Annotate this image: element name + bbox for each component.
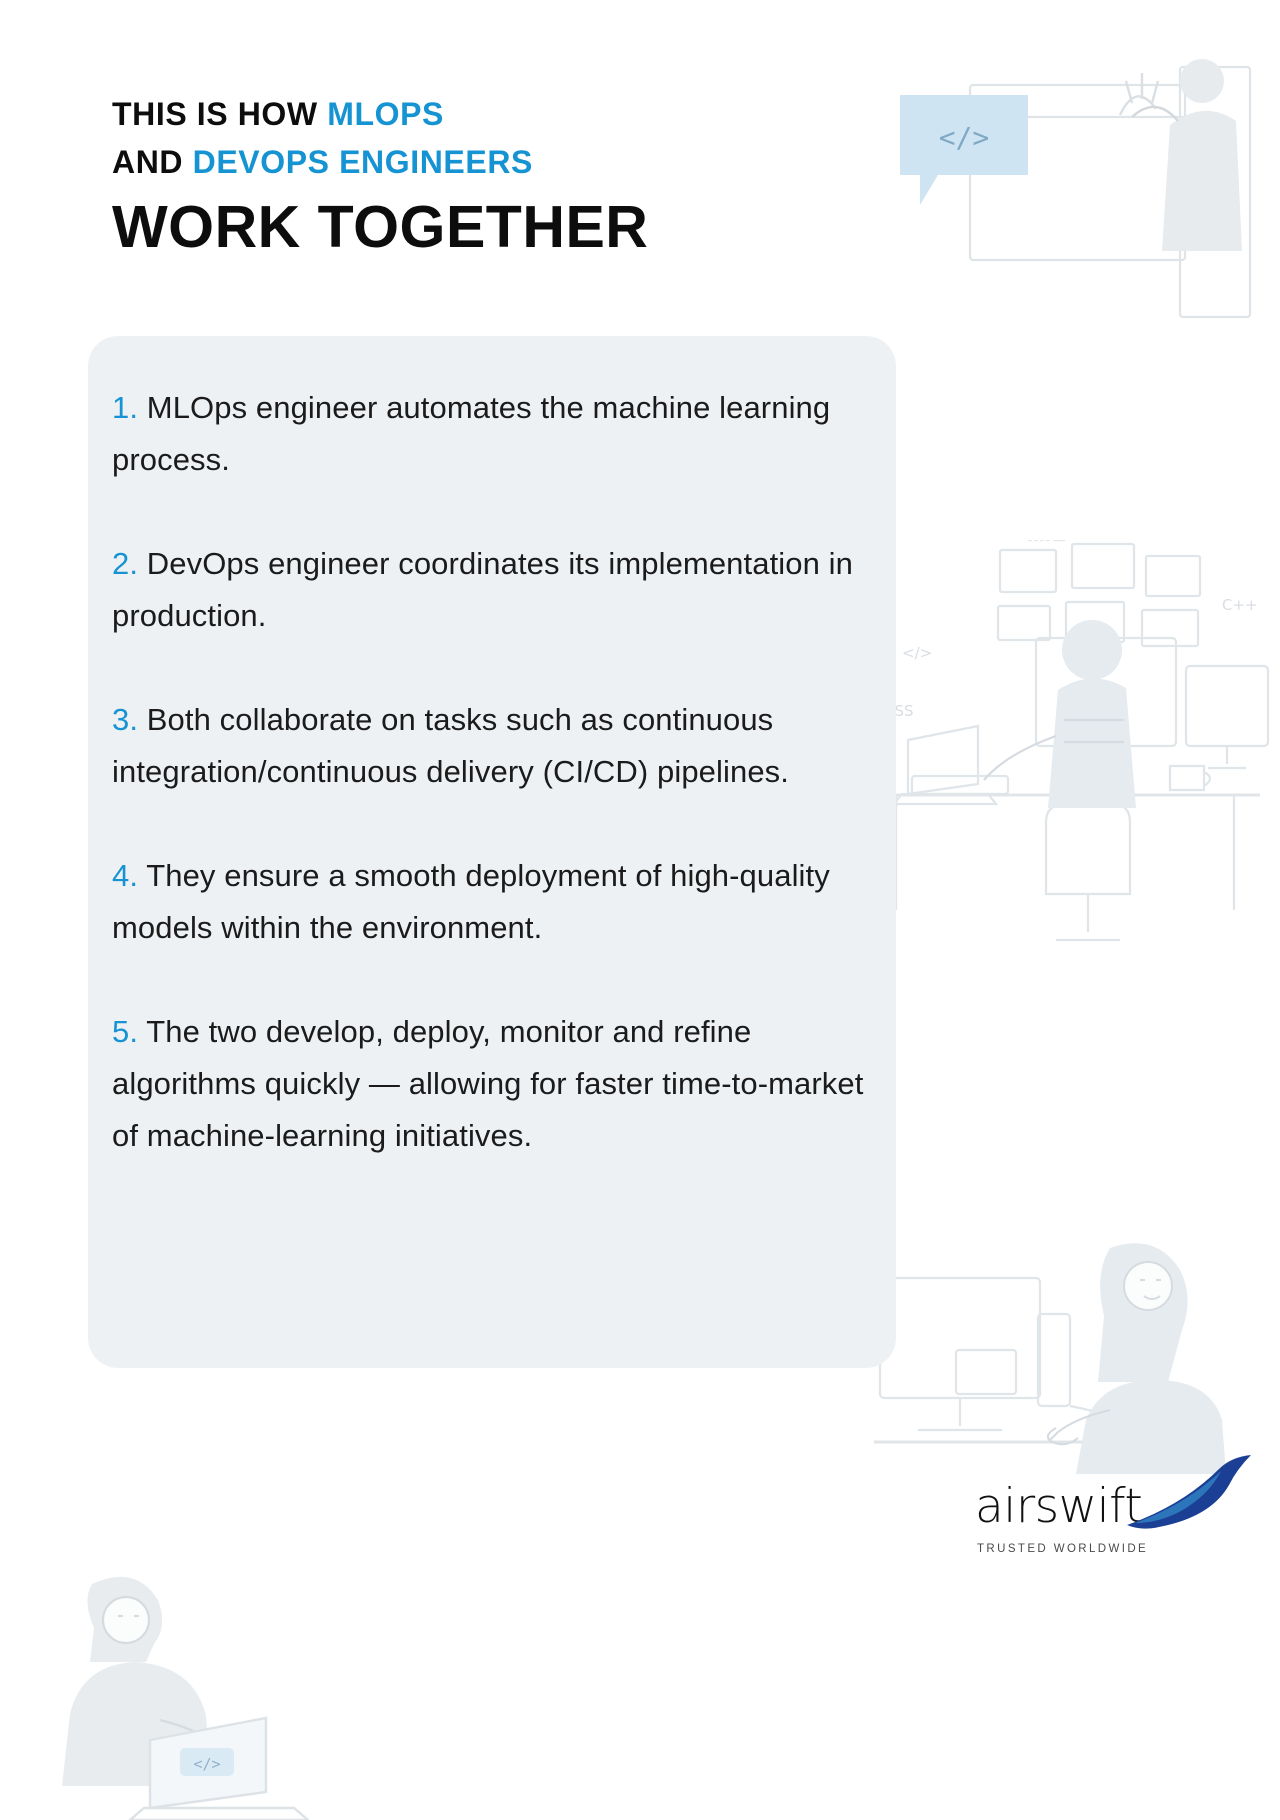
headline-line-3: WORK TOGETHER [112, 192, 648, 262]
headline-line-2-plain: AND [112, 144, 193, 180]
swoosh-icon [1125, 1455, 1255, 1529]
list-item: 1. MLOps engineer automates the machine … [112, 382, 872, 486]
list-item-number: 4. [112, 858, 138, 893]
list-item-text: DevOps engineer coordinates its implemen… [112, 546, 853, 633]
logo-wordmark: airswift [975, 1479, 1142, 1534]
logo-tagline: TRUSTED WORLDWIDE [975, 1543, 1175, 1555]
svg-text:C++: C++ [1222, 596, 1258, 614]
list-item-number: 1. [112, 390, 138, 425]
headline-line-2: AND DEVOPS ENGINEERS [112, 138, 648, 186]
airswift-logo: airswift TRUSTED WORLDWIDE [975, 1479, 1175, 1555]
headline-line-2-accent: DEVOPS ENGINEERS [193, 144, 533, 180]
list-item: 2. DevOps engineer coordinates its imple… [112, 538, 872, 642]
svg-text:</>: </> [939, 121, 990, 154]
headline-line-1: THIS IS HOW MLOPS [112, 90, 648, 138]
headline-line-1-plain: THIS IS HOW [112, 96, 327, 132]
list-item-number: 3. [112, 702, 138, 737]
steps-list: 1. MLOps engineer automates the machine … [112, 382, 872, 1162]
list-item-text: MLOps engineer automates the machine lea… [112, 390, 830, 477]
code-bubble-icon: </> [900, 95, 1028, 205]
illustration-developer-at-desk: HTML [850, 540, 1280, 970]
list-item: 5. The two develop, deploy, monitor and … [112, 1006, 872, 1162]
list-item-text: The two develop, deploy, monitor and ref… [112, 1014, 863, 1153]
page-headline: THIS IS HOW MLOPS AND DEVOPS ENGINEERS W… [112, 90, 648, 262]
list-item-number: 2. [112, 546, 138, 581]
svg-text:</>: </> [902, 644, 932, 662]
list-item-text: They ensure a smooth deployment of high-… [112, 858, 830, 945]
list-item: 3. Both collaborate on tasks such as con… [112, 694, 872, 798]
headline-line-1-accent: MLOPS [327, 96, 444, 132]
illustration-person-with-laptop: </> [40, 1570, 370, 1820]
svg-text:</>: </> [193, 1755, 220, 1773]
svg-text:HTML: HTML [1028, 540, 1065, 544]
illustration-presenter-with-code-bubble: </> [880, 55, 1280, 325]
list-item: 4. They ensure a smooth deployment of hi… [112, 850, 872, 954]
list-item-number: 5. [112, 1014, 138, 1049]
list-item-text: Both collaborate on tasks such as contin… [112, 702, 789, 789]
